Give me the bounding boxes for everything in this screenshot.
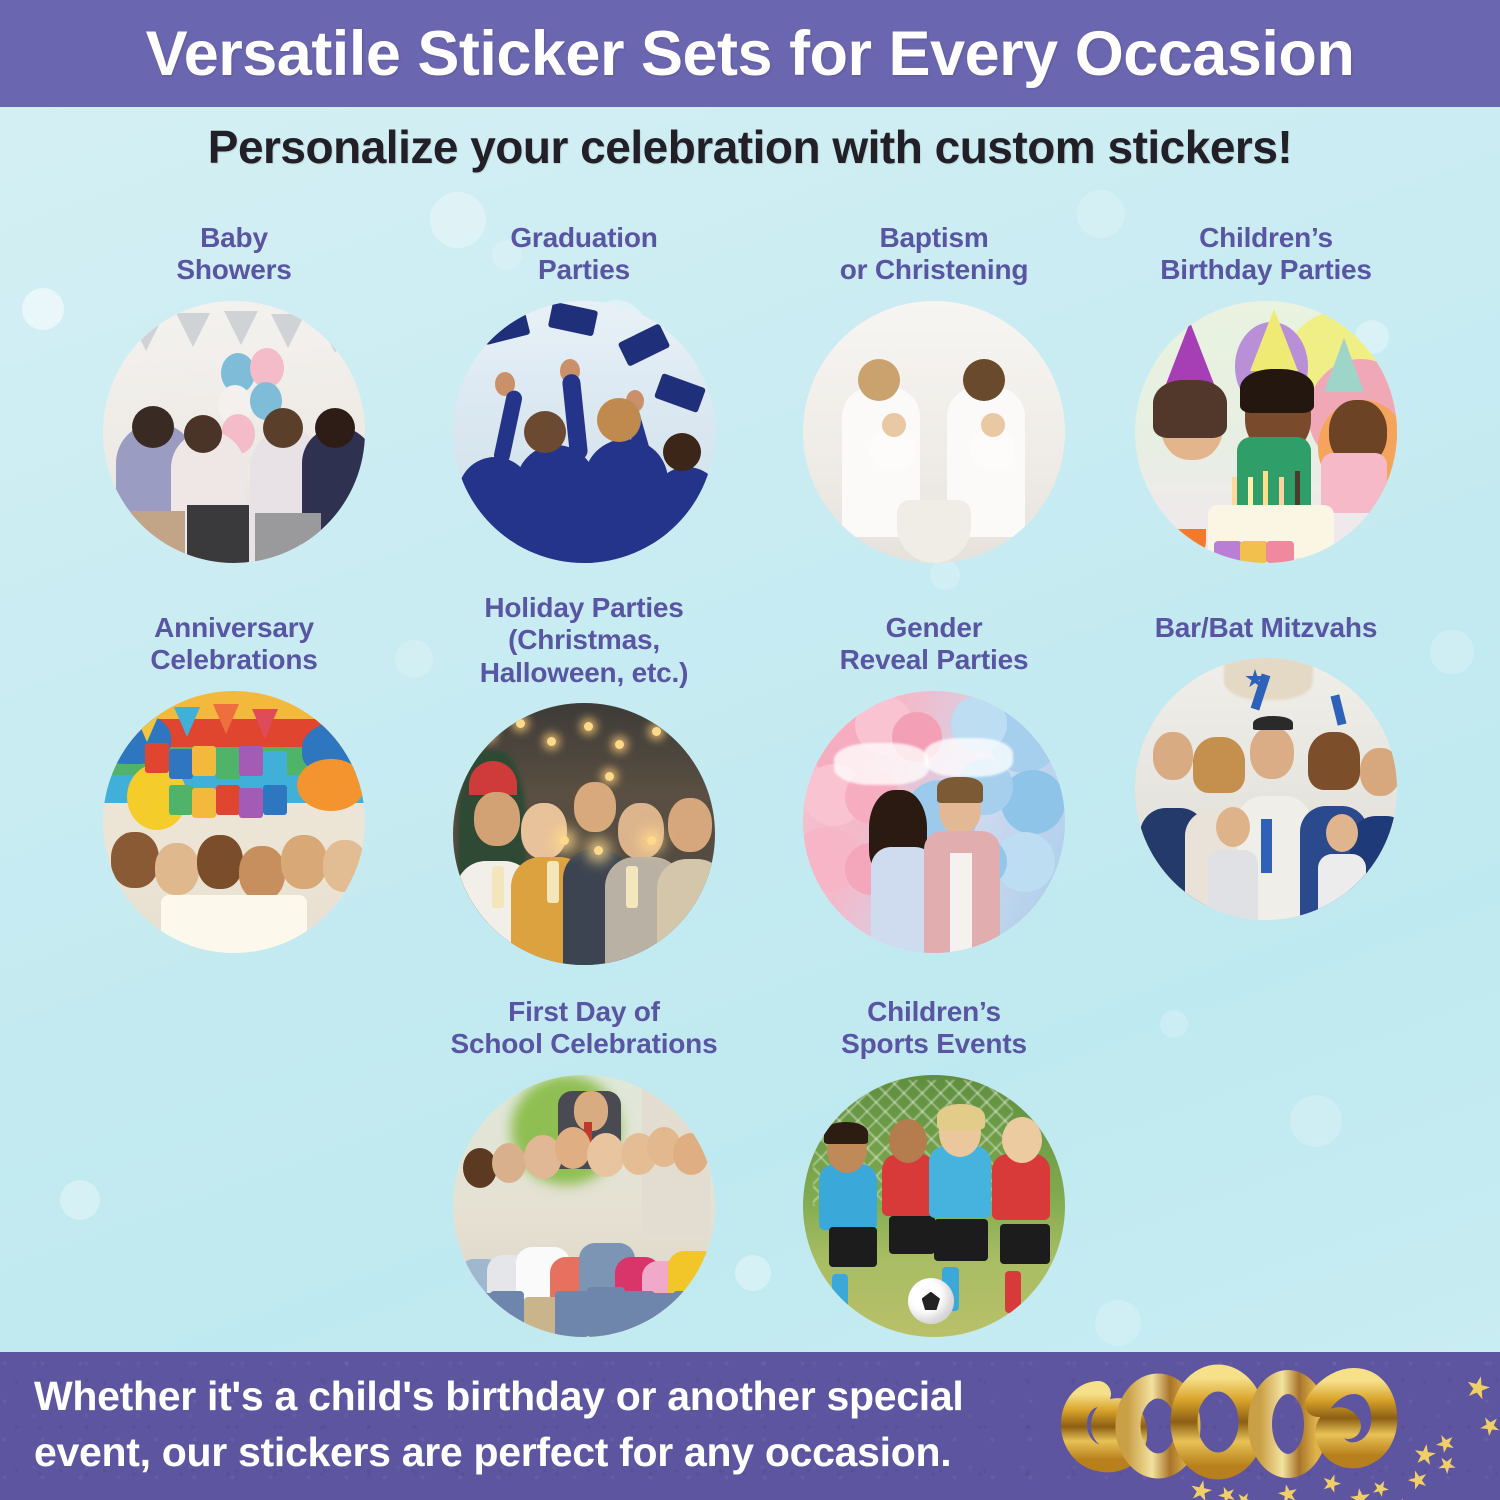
occasion-card-baptism-or-christening[interactable]: Baptism or Christening bbox=[784, 222, 1084, 563]
occasion-label: Anniversary Celebrations bbox=[84, 612, 384, 677]
occasion-label: Baby Showers bbox=[84, 222, 384, 287]
occasion-card-childrens-birthday-parties[interactable]: Children’s Birthday Parties bbox=[1116, 222, 1416, 563]
occasion-card-first-day-of-school[interactable]: First Day of School Celebrations bbox=[434, 996, 734, 1337]
occasions-grid: Baby Showers bbox=[0, 0, 1500, 1500]
occasion-photo-bar-bat-mitzvahs bbox=[1135, 658, 1397, 920]
occasion-label: Graduation Parties bbox=[434, 222, 734, 287]
footer-bar: Whether it's a child's birthday or anoth… bbox=[0, 1352, 1500, 1500]
occasion-label: Bar/Bat Mitzvahs bbox=[1116, 612, 1416, 644]
occasion-photo-childrens-sports-events bbox=[803, 1075, 1065, 1337]
footer-message: Whether it's a child's birthday or anoth… bbox=[34, 1369, 1094, 1481]
header-bar: Versatile Sticker Sets for Every Occasio… bbox=[0, 0, 1500, 107]
occasion-card-anniversary-celebrations[interactable]: Anniversary Celebrations bbox=[84, 612, 384, 953]
occasion-photo-childrens-birthday-parties bbox=[1135, 301, 1397, 563]
occasion-photo-graduation-parties bbox=[453, 301, 715, 563]
occasion-card-graduation-parties[interactable]: Graduation Parties bbox=[434, 222, 734, 563]
page-title: Versatile Sticker Sets for Every Occasio… bbox=[146, 18, 1355, 90]
occasion-card-gender-reveal-parties[interactable]: Gender Reveal Parties bbox=[784, 612, 1084, 953]
occasion-card-bar-bat-mitzvahs[interactable]: Bar/Bat Mitzvahs bbox=[1116, 612, 1416, 920]
occasion-photo-first-day-of-school bbox=[453, 1075, 715, 1337]
gold-ribbon-decoration bbox=[1040, 1352, 1500, 1500]
occasion-photo-baptism-or-christening bbox=[803, 301, 1065, 563]
ribbon-icon bbox=[1040, 1352, 1500, 1500]
subheading: Personalize your celebration with custom… bbox=[0, 120, 1500, 174]
occasion-label: Children’s Sports Events bbox=[784, 996, 1084, 1061]
occasion-card-childrens-sports-events[interactable]: Children’s Sports Events bbox=[784, 996, 1084, 1337]
infographic-canvas: Versatile Sticker Sets for Every Occasio… bbox=[0, 0, 1500, 1500]
occasion-label: Baptism or Christening bbox=[784, 222, 1084, 287]
occasion-photo-baby-showers bbox=[103, 301, 365, 563]
occasion-photo-anniversary-celebrations bbox=[103, 691, 365, 953]
occasion-label: First Day of School Celebrations bbox=[434, 996, 734, 1061]
occasion-card-baby-showers[interactable]: Baby Showers bbox=[84, 222, 384, 563]
occasion-card-holiday-parties[interactable]: Holiday Parties (Christmas, Halloween, e… bbox=[434, 592, 734, 965]
occasion-photo-gender-reveal-parties bbox=[803, 691, 1065, 953]
occasion-label: Gender Reveal Parties bbox=[784, 612, 1084, 677]
occasion-label: Children’s Birthday Parties bbox=[1116, 222, 1416, 287]
occasion-label: Holiday Parties (Christmas, Halloween, e… bbox=[434, 592, 734, 689]
occasion-photo-holiday-parties bbox=[453, 703, 715, 965]
